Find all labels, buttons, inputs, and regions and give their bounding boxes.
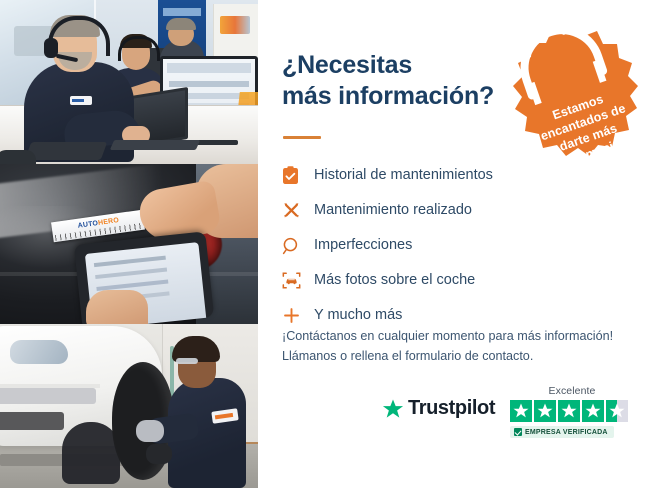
trustpilot-brand-label: Trustpilot xyxy=(408,397,495,420)
content-panel: ¿Necesitas más información? Estamos enca… xyxy=(258,0,650,488)
trustpilot-widget[interactable]: Trustpilot Excelente xyxy=(382,385,638,449)
verified-company-badge: EMPRESA VERIFICADA xyxy=(510,426,614,438)
photo-collage: AUTOHERO xyxy=(0,0,258,488)
star-filled xyxy=(582,400,604,422)
list-item: Imperfecciones xyxy=(282,228,632,263)
contact-copy: ¡Contáctanos en cualquier momento para m… xyxy=(282,326,634,367)
status-badge: Estamos encantados de darte más informac… xyxy=(502,22,644,164)
trustpilot-logo: Trustpilot xyxy=(382,397,495,420)
trustpilot-star-icon xyxy=(382,398,404,420)
list-item-label: Y mucho más xyxy=(310,308,402,323)
wrench-screwdriver-icon xyxy=(282,201,310,220)
star-filled xyxy=(558,400,580,422)
star-filled xyxy=(510,400,532,422)
plus-icon xyxy=(282,306,310,325)
magnifier-icon xyxy=(282,237,310,255)
mechanic-wheel-photo xyxy=(0,324,258,488)
car-inspection-ruler-photo: AUTOHERO xyxy=(0,164,258,324)
star-half xyxy=(606,400,628,422)
list-item-label: Historial de mantenimientos xyxy=(310,168,493,183)
feature-list: Historial de mantenimientos M xyxy=(282,158,632,333)
verified-company-label: EMPRESA VERIFICADA xyxy=(525,429,608,436)
list-item: Mantenimiento realizado xyxy=(282,193,632,228)
list-item-label: Imperfecciones xyxy=(310,238,412,253)
list-item: Historial de mantenimientos xyxy=(282,158,632,193)
trustpilot-rating: Excelente xyxy=(510,385,634,441)
headline-line-2: más información? xyxy=(282,81,532,112)
call-center-agents-photo xyxy=(0,0,258,164)
star-filled xyxy=(534,400,556,422)
rating-label: Excelente xyxy=(510,385,634,397)
clipboard-check-icon xyxy=(282,166,310,185)
headline-line-1: ¿Necesitas xyxy=(282,50,532,81)
car-scan-icon xyxy=(282,271,310,290)
list-item: Más fotos sobre el coche xyxy=(282,263,632,298)
star-rating xyxy=(510,400,634,422)
contact-line-1: ¡Contáctanos en cualquier momento para m… xyxy=(282,326,634,346)
list-item-label: Mantenimiento realizado xyxy=(310,203,472,218)
check-box-icon xyxy=(514,428,522,436)
list-item-label: Más fotos sobre el coche xyxy=(310,273,475,288)
contact-line-2: Llámanos o rellena el formulario de cont… xyxy=(282,346,634,366)
title-divider xyxy=(283,136,321,139)
page-title: ¿Necesitas más información? xyxy=(282,50,532,111)
info-promo-banner: AUTOHERO xyxy=(0,0,650,488)
starburst-shape-icon xyxy=(502,22,644,164)
